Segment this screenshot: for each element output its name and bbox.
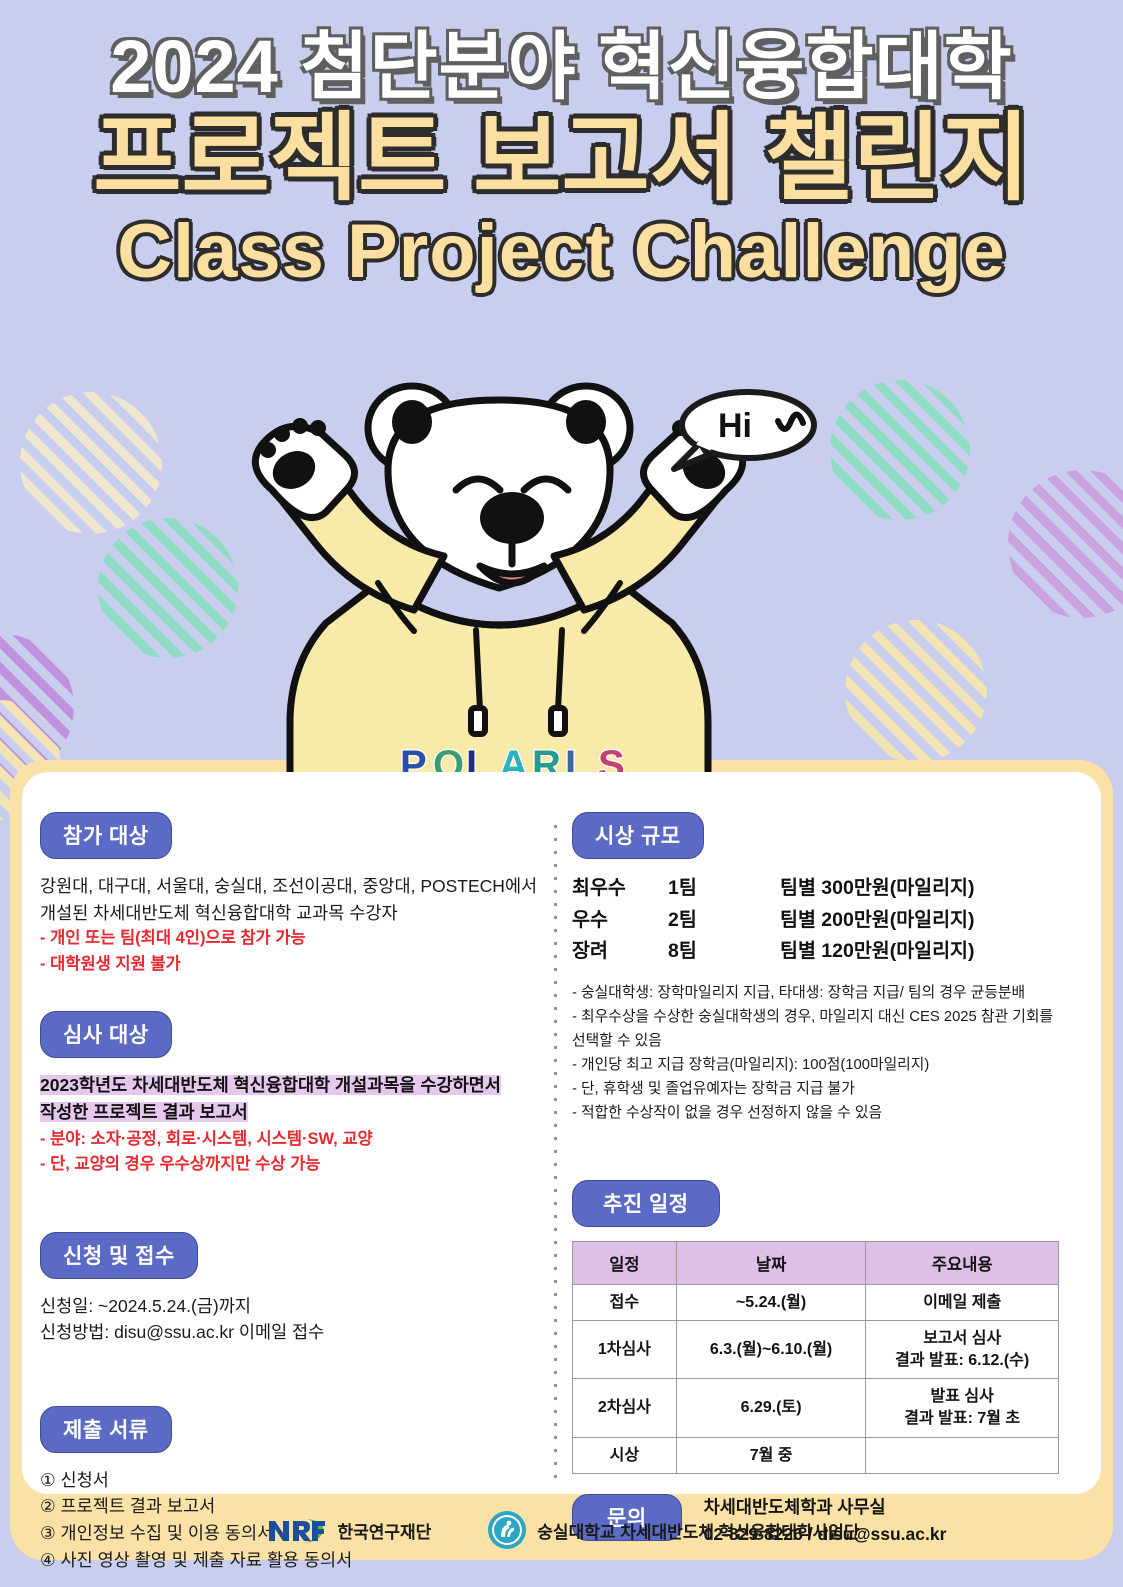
deco-circle-mint-left [98, 518, 238, 658]
award-row: 우수 2팀 팀별 200만원(마일리지) [572, 905, 1092, 937]
participants-body-line1: 강원대, 대구대, 서울대, 숭실대, 조선이공대, 중앙대, POSTECH에… [40, 873, 540, 900]
award-note: 선택할 수 있음 [572, 1030, 1092, 1054]
award-prize: 팀별 200만원(마일리지) [780, 905, 1092, 937]
participants-body-line2: 개설된 차세대반도체 혁신융합대학 교과목 수강자 [40, 900, 540, 927]
award-note: - 개인당 최고 지급 장학금(마일리지): 100점(100마일리지) [572, 1054, 1092, 1078]
nrf-logo-group: 한국연구재단 [263, 1513, 431, 1547]
award-teams: 2팀 [668, 905, 780, 937]
nrf-logo-icon [263, 1513, 327, 1547]
cell-detail [866, 1437, 1059, 1474]
award-teams: 8팀 [668, 936, 780, 968]
cell-stage: 접수 [573, 1284, 677, 1321]
section-heading-application: 신청 및 접수 [40, 1232, 198, 1279]
cell-detail-line1: 발표 심사 [870, 1386, 1054, 1408]
cell-date: 6.29.(토) [676, 1379, 866, 1437]
cell-date: 7월 중 [676, 1437, 866, 1474]
nrf-label: 한국연구재단 [337, 1518, 431, 1543]
ssu-label: 숭실대학교 차세대반도체 혁신융합대학사업단 [537, 1518, 859, 1543]
title-line-2: 프로젝트 보고서 챌린지 [0, 110, 1123, 208]
table-header-row: 일정 날짜 주요내용 [573, 1241, 1059, 1284]
right-column: 시상 규모 최우수 1팀 팀별 300만원(마일리지) 우수 2팀 팀별 200… [572, 812, 1092, 1548]
poster-root: 2024 첨단분야 혁신융합대학 프로젝트 보고서 챌린지 Class Proj… [0, 0, 1123, 1587]
award-note: - 단, 휴학생 및 졸업유예자는 장학금 지급 불가 [572, 1078, 1092, 1102]
award-row: 최우수 1팀 팀별 300만원(마일리지) [572, 873, 1092, 905]
table-row: 접수 ~5.24.(월) 이메일 제출 [573, 1284, 1059, 1321]
award-row: 장려 8팀 팀별 120만원(마일리지) [572, 936, 1092, 968]
cell-detail-line2: 결과 발표: 7월 초 [870, 1408, 1054, 1430]
award-prize: 팀별 300만원(마일리지) [780, 873, 1092, 905]
table-row: 2차심사 6.29.(토) 발표 심사 결과 발표: 7월 초 [573, 1379, 1059, 1437]
cell-stage: 2차심사 [573, 1379, 677, 1437]
schedule-table: 일정 날짜 주요내용 접수 ~5.24.(월) 이메일 제출 1차심사 6.3.… [572, 1241, 1059, 1475]
section-heading-awards: 시상 규모 [572, 812, 704, 859]
application-method: 신청방법: disu@ssu.ac.kr 이메일 접수 [40, 1319, 540, 1346]
section-heading-review-target: 심사 대상 [40, 1011, 172, 1058]
speech-bubble-icon: Hi [660, 385, 830, 475]
review-target-highlight-line1: 2023학년도 차세대반도체 혁신융합대학 개설과목을 수강하면서 [40, 1075, 501, 1095]
table-col-detail: 주요내용 [866, 1241, 1059, 1284]
document-item: ① 신청서 [40, 1467, 540, 1494]
cell-detail-line1: 보고서 심사 [870, 1328, 1054, 1350]
cell-detail-line2: 결과 발표: 6.12.(수) [870, 1350, 1054, 1372]
left-column: 참가 대상 강원대, 대구대, 서울대, 숭실대, 조선이공대, 중앙대, PO… [40, 812, 540, 1573]
award-note: - 숭실대학생: 장학마일리지 지급, 타대생: 장학금 지급/ 팀의 경우 균… [572, 982, 1092, 1006]
cell-stage: 1차심사 [573, 1321, 677, 1379]
cell-detail: 보고서 심사 결과 발표: 6.12.(수) [866, 1321, 1059, 1379]
deco-circle-cream-left [20, 392, 162, 534]
table-col-date: 날짜 [676, 1241, 866, 1284]
table-row: 1차심사 6.3.(월)~6.10.(월) 보고서 심사 결과 발표: 6.12… [573, 1321, 1059, 1379]
speech-text: Hi [718, 407, 752, 445]
table-col-stage: 일정 [573, 1241, 677, 1284]
cell-date: 6.3.(월)~6.10.(월) [676, 1321, 866, 1379]
application-date: 신청일: ~2024.5.24.(금)까지 [40, 1293, 540, 1320]
section-heading-documents: 제출 서류 [40, 1406, 172, 1453]
deco-circle-lilac-right [1008, 470, 1123, 618]
review-target-note-1: - 분야: 소자·공정, 회로·시스템, 시스템·SW, 교양 [40, 1127, 540, 1153]
review-target-highlight-line2: 작성한 프로젝트 결과 보고서 [40, 1102, 248, 1122]
cell-detail: 발표 심사 결과 발표: 7월 초 [866, 1379, 1059, 1437]
footer-logos: 한국연구재단 숭실대학교 차세대반도체 혁신융합대학사업단 [0, 1500, 1123, 1560]
ssu-logo-group: 숭실대학교 차세대반도체 혁신융합대학사업단 [487, 1510, 859, 1550]
column-divider [553, 820, 558, 1480]
title-line-3: Class Project Challenge [0, 214, 1123, 290]
participants-note-1: - 개인 또는 팀(최대 4인)으로 참가 가능 [40, 926, 540, 952]
cell-detail: 이메일 제출 [866, 1284, 1059, 1321]
section-heading-participants: 참가 대상 [40, 812, 172, 859]
award-note: - 적합한 수상작이 없을 경우 선정하지 않을 수 있음 [572, 1102, 1092, 1126]
award-grade: 최우수 [572, 873, 668, 905]
award-note: - 최우수상을 수상한 숭실대학생의 경우, 마일리지 대신 CES 2025 … [572, 1006, 1092, 1030]
cell-stage: 시상 [573, 1437, 677, 1474]
award-prize: 팀별 120만원(마일리지) [780, 936, 1092, 968]
title-line-1: 2024 첨단분야 혁신융합대학 [0, 28, 1123, 106]
review-target-note-2: - 단, 교양의 경우 우수상까지만 수상 가능 [40, 1152, 540, 1178]
award-grade: 장려 [572, 936, 668, 968]
cell-date: ~5.24.(월) [676, 1284, 866, 1321]
table-row: 시상 7월 중 [573, 1437, 1059, 1474]
ssu-emblem-icon [487, 1510, 527, 1550]
section-heading-schedule: 추진 일정 [572, 1180, 720, 1227]
title-block: 2024 첨단분야 혁신융합대학 프로젝트 보고서 챌린지 Class Proj… [0, 0, 1123, 290]
participants-note-2: - 대학원생 지원 불가 [40, 952, 540, 978]
award-teams: 1팀 [668, 873, 780, 905]
cell-detail-line1: 이메일 제출 [923, 1294, 1001, 1311]
award-grade: 우수 [572, 905, 668, 937]
